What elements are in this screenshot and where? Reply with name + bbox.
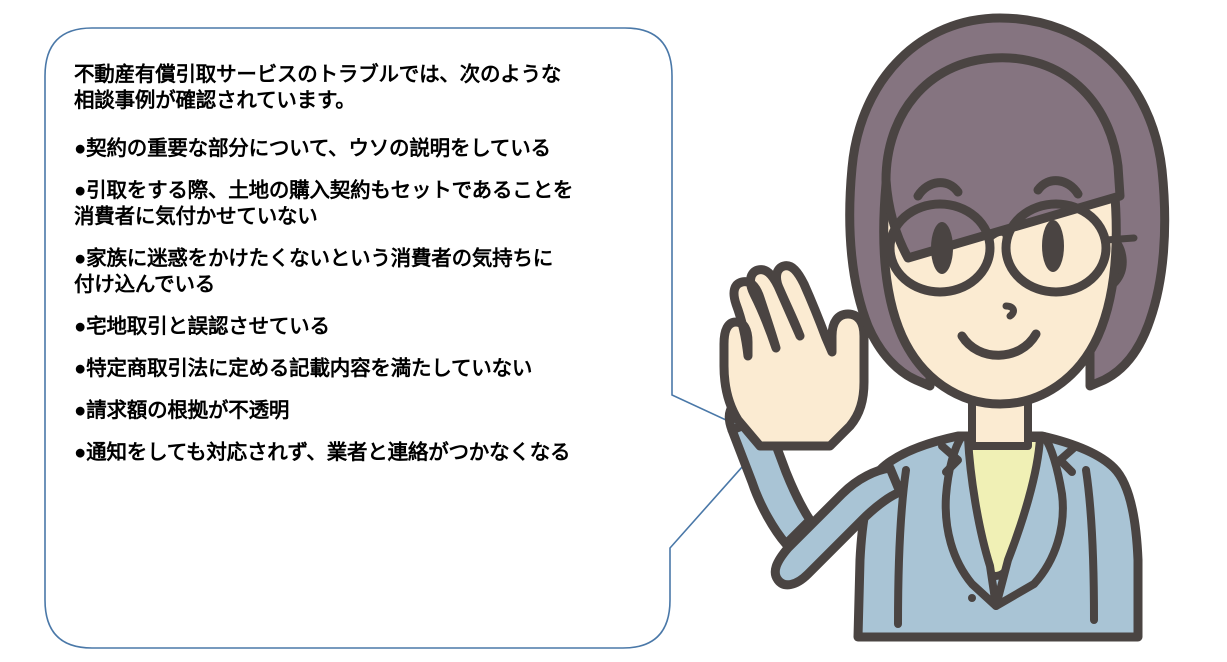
intro-line-1: 不動産有償引取サービスのトラブルでは、次のような [74, 62, 654, 88]
bullet-2-line-1: ●引取をする際、土地の購入契約もセットであることを [74, 178, 654, 204]
bullet-7-line-1: ●通知をしても対応されず、業者と連絡がつかなくなる [74, 440, 654, 466]
bullet-item-2: ●引取をする際、土地の購入契約もセットであることを 消費者に気付かせていない [74, 178, 654, 230]
intro-line-2: 相談事例が確認されています。 [74, 88, 654, 114]
bullet-item-1: ●契約の重要な部分について、ウソの説明をしている [74, 136, 654, 162]
bullet-item-5: ●特定商取引法に定める記載内容を満たしていない [74, 356, 654, 382]
bullet-item-7: ●通知をしても対応されず、業者と連絡がつかなくなる [74, 440, 654, 466]
bullet-2-line-2: 消費者に気付かせていない [74, 204, 654, 230]
speech-bubble-shape [0, 0, 800, 657]
glasses-temple-arm [1106, 238, 1134, 240]
advice-speech-bubble: 不動産有償引取サービスのトラブルでは、次のような 相談事例が確認されています。 … [0, 0, 800, 657]
eye-left [931, 222, 953, 274]
bullet-6-line-1: ●請求額の根拠が不透明 [74, 398, 654, 424]
eye-right [1042, 220, 1064, 272]
open-hand-gesture [724, 266, 864, 446]
bullet-3-line-1: ●家族に迷惑をかけたくないという消費者の気持ちに [74, 246, 654, 272]
jacket-button [968, 594, 976, 602]
bullet-1-line-1: ●契約の重要な部分について、ウソの説明をしている [74, 136, 654, 162]
hand-shape [724, 266, 864, 446]
character-svg [690, 0, 1227, 657]
bubble-intro-paragraph: 不動産有償引取サービスのトラブルでは、次のような 相談事例が確認されています。 [74, 62, 654, 114]
bubble-text-content: 不動産有償引取サービスのトラブルでは、次のような 相談事例が確認されています。 … [74, 62, 654, 622]
bubble-outline-path [45, 28, 767, 648]
illustration-canvas: 不動産有償引取サービスのトラブルでは、次のような 相談事例が確認されています。 … [0, 0, 1227, 657]
bullet-5-line-1: ●特定商取引法に定める記載内容を満たしていない [74, 356, 654, 382]
bullet-item-4: ●宅地取引と誤認させている [74, 314, 654, 340]
bullet-item-6: ●請求額の根拠が不透明 [74, 398, 654, 424]
bullet-4-line-1: ●宅地取引と誤認させている [74, 314, 654, 340]
bullet-3-line-2: 付け込んでいる [74, 272, 654, 298]
female-advisor-illustration [690, 0, 1227, 657]
bullet-item-3: ●家族に迷惑をかけたくないという消費者の気持ちに 付け込んでいる [74, 246, 654, 298]
